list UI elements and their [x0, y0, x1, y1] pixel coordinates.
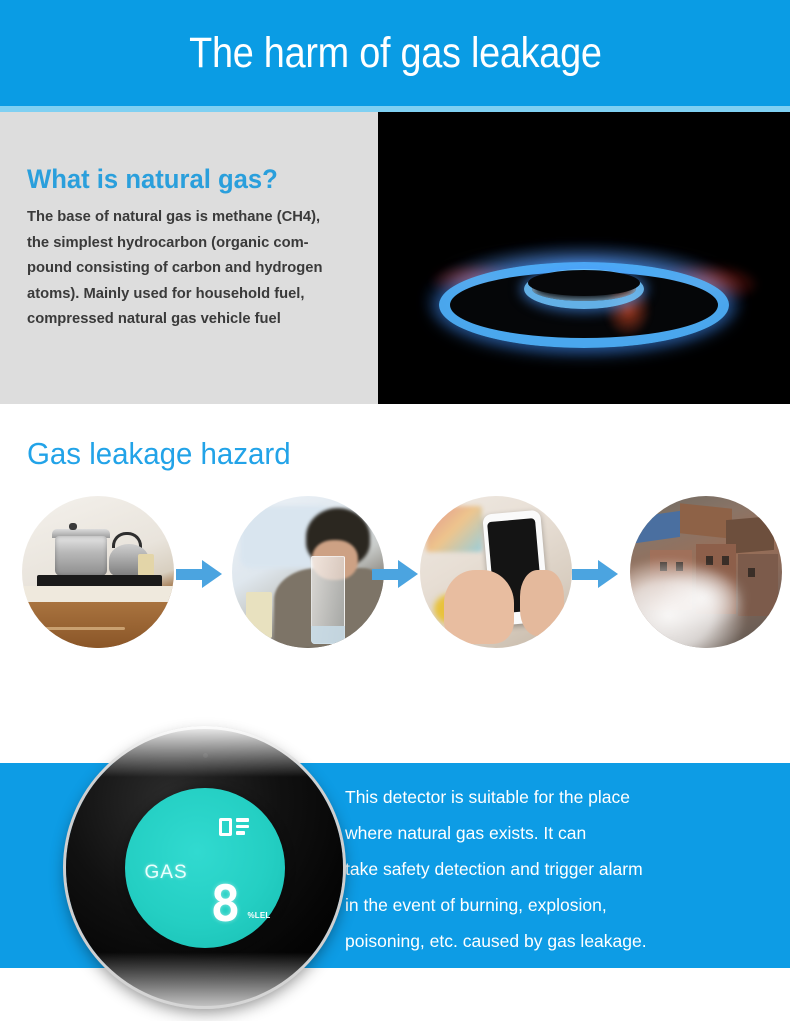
arrow-head [398, 560, 418, 588]
natural-gas-body: The base of natural gas is methane (CH4)… [27, 204, 361, 332]
detector-display-screen: GAS 8 %LEL [125, 788, 285, 948]
roof [636, 511, 680, 543]
detector-description-line: where natural gas exists. It can [345, 815, 775, 851]
left-hand [444, 570, 514, 644]
signal-bars-icon [236, 818, 249, 836]
natural-gas-body-line: pound consisting of carbon and hydrogen [27, 255, 361, 281]
natural-gas-body-line: the simplest hydrocarbon (organic com- [27, 230, 361, 256]
arrow-right-icon [176, 560, 222, 588]
burner-inner-center [528, 270, 640, 296]
hazard-heading: Gas leakage hazard [27, 436, 291, 472]
hazard-steps-row [0, 496, 790, 656]
cabinet [22, 602, 174, 648]
arrow-head [598, 560, 618, 588]
header-banner: The harm of gas leakage [0, 0, 790, 106]
signal-zero-digit-icon [219, 818, 232, 836]
section-gas-leakage-hazard: Gas leakage hazard [0, 404, 790, 704]
page-title: The harm of gas leakage [189, 29, 602, 78]
detector-description-line: This detector is suitable for the place [345, 779, 775, 815]
gas-burner-flame-photo [378, 112, 790, 404]
pot-knob [69, 523, 77, 530]
arrow-right-icon [572, 560, 618, 588]
jar [138, 554, 154, 576]
section-what-is-natural-gas: What is natural gas? The base of natural… [0, 112, 790, 404]
window [748, 568, 755, 577]
detector-description-line: poisoning, etc. caused by gas leakage. [345, 923, 775, 959]
display-signal-indicator [219, 818, 249, 836]
infographic-page: The harm of gas leakage What is natural … [0, 0, 790, 1021]
sensor-pinhole-icon [203, 753, 208, 758]
display-gas-label: GAS [145, 862, 188, 884]
detector-description-line: take safety detection and trigger alarm [345, 851, 775, 887]
cooking-pot [55, 536, 107, 576]
cup [246, 592, 272, 638]
natural-gas-heading: What is natural gas? [27, 164, 278, 195]
glass-water [311, 626, 345, 644]
detector-description-line: in the event of burning, explosion, [345, 887, 775, 923]
arrow-right-icon [372, 560, 418, 588]
natural-gas-body-line: atoms). Mainly used for household fuel, [27, 281, 361, 307]
gas-detector-device: GAS 8 %LEL [66, 729, 343, 1006]
kitchen-stove-photo [22, 496, 174, 648]
person-feeling-sick-photo [232, 496, 384, 648]
detector-description: This detector is suitable for the place … [345, 779, 775, 959]
wall-picture [426, 506, 482, 552]
right-hand [520, 570, 564, 636]
smoke-plume [630, 558, 746, 648]
cabinet-handle [34, 627, 125, 630]
counter-top [22, 586, 174, 602]
natural-gas-body-line: The base of natural gas is methane (CH4)… [27, 204, 361, 230]
display-reading-value: 8 [210, 882, 240, 926]
natural-gas-text-panel: What is natural gas? The base of natural… [0, 112, 378, 404]
roof [680, 503, 732, 538]
smoke-over-buildings-photo [630, 496, 782, 648]
hand-holding-phone-photo [420, 496, 572, 648]
display-reading-unit: %LEL [247, 911, 270, 920]
natural-gas-body-line: compressed natural gas vehicle fuel [27, 306, 361, 332]
arrow-head [202, 560, 222, 588]
